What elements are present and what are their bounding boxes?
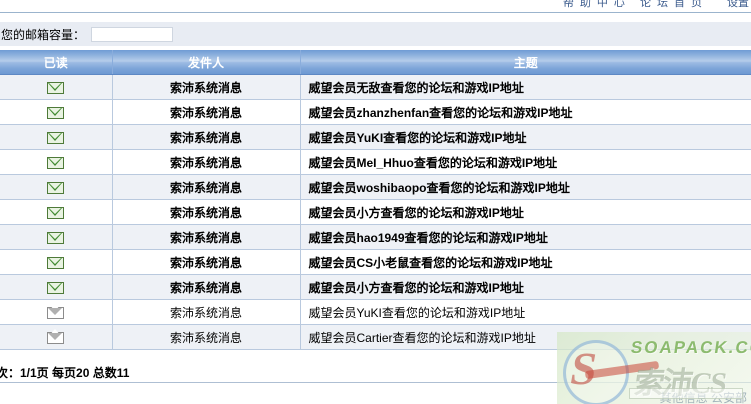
cell-subject[interactable]: 威望会员zhanzhenfan查看您的论坛和游戏IP地址 <box>300 100 751 125</box>
mailbox-capacity-row: 您的邮箱容量： <box>0 21 751 46</box>
table-row[interactable]: 索沛系统消息威望会员MeI_Hhuo查看您的论坛和游戏IP地址 <box>0 150 751 175</box>
closed-envelope-icon[interactable] <box>47 207 64 219</box>
mailbox-capacity-meter <box>91 27 173 42</box>
table-row[interactable]: 索沛系统消息威望会员YuKI查看您的论坛和游戏IP地址 <box>0 300 751 325</box>
cell-subject[interactable]: 威望会员Cartier查看您的论坛和游戏IP地址 <box>300 325 751 350</box>
cell-sender: 索沛系统消息 <box>112 250 300 275</box>
cell-subject[interactable]: 威望会员小方查看您的论坛和游戏IP地址 <box>300 200 751 225</box>
closed-envelope-icon[interactable] <box>47 82 64 94</box>
top-nav-links-clipped[interactable]: 帮助中心 论坛首页 <box>563 0 708 10</box>
column-header-subject[interactable]: 主题 <box>300 50 751 75</box>
closed-envelope-icon[interactable] <box>47 157 64 169</box>
cell-sender: 索沛系统消息 <box>112 200 300 225</box>
cell-read-state <box>0 325 112 350</box>
table-row[interactable]: 索沛系统消息威望会员woshibaopo查看您的论坛和游戏IP地址 <box>0 175 751 200</box>
cell-read-state <box>0 125 112 150</box>
message-table-head: 已读 发件人 主题 <box>0 50 751 75</box>
closed-envelope-icon[interactable] <box>47 282 64 294</box>
closed-envelope-icon[interactable] <box>47 107 64 119</box>
table-row[interactable]: 索沛系统消息威望会员Cartier查看您的论坛和游戏IP地址 <box>0 325 751 350</box>
cell-read-state <box>0 275 112 300</box>
table-row[interactable]: 索沛系统消息威望会员YuKI查看您的论坛和游戏IP地址 <box>0 125 751 150</box>
cell-subject[interactable]: 威望会员hao1949查看您的论坛和游戏IP地址 <box>300 225 751 250</box>
cell-read-state <box>0 175 112 200</box>
cell-subject[interactable]: 威望会员woshibaopo查看您的论坛和游戏IP地址 <box>300 175 751 200</box>
cell-read-state <box>0 200 112 225</box>
cell-sender: 索沛系统消息 <box>112 175 300 200</box>
open-envelope-icon[interactable] <box>47 332 64 344</box>
cell-read-state <box>0 225 112 250</box>
cell-sender: 索沛系统消息 <box>112 150 300 175</box>
cell-subject[interactable]: 威望会员YuKI查看您的论坛和游戏IP地址 <box>300 300 751 325</box>
message-table-body: 索沛系统消息威望会员无敌查看您的论坛和游戏IP地址索沛系统消息威望会员zhanz… <box>0 75 751 350</box>
top-nav-right-clipped[interactable]: 设置 <box>727 0 749 10</box>
cell-read-state <box>0 150 112 175</box>
cell-subject[interactable]: 威望会员MeI_Hhuo查看您的论坛和游戏IP地址 <box>300 150 751 175</box>
pagination-text: 页次：1/1页 每页20 总数11 <box>0 364 129 381</box>
closed-envelope-icon[interactable] <box>47 182 64 194</box>
message-table: 已读 发件人 主题 索沛系统消息威望会员无敌查看您的论坛和游戏IP地址索沛系统消… <box>0 50 751 350</box>
open-envelope-icon[interactable] <box>47 307 64 319</box>
bottom-clipped-text: 其他信息 公安部 <box>660 389 747 404</box>
cell-read-state <box>0 75 112 100</box>
table-row[interactable]: 索沛系统消息威望会员无敌查看您的论坛和游戏IP地址 <box>0 75 751 100</box>
cell-sender: 索沛系统消息 <box>112 100 300 125</box>
cell-subject[interactable]: 威望会员CS小老鼠查看您的论坛和游戏IP地址 <box>300 250 751 275</box>
pagination-footer: 页次：1/1页 每页20 总数11 <box>0 364 751 382</box>
column-header-read[interactable]: 已读 <box>0 50 112 75</box>
top-chrome-strip: 帮助中心 论坛首页 设置 <box>0 0 751 12</box>
cell-sender: 索沛系统消息 <box>112 225 300 250</box>
cell-read-state <box>0 100 112 125</box>
cell-sender: 索沛系统消息 <box>112 300 300 325</box>
cell-read-state <box>0 300 112 325</box>
table-header-row: 已读 发件人 主题 <box>0 50 751 75</box>
cell-subject[interactable]: 威望会员小方查看您的论坛和游戏IP地址 <box>300 275 751 300</box>
table-row[interactable]: 索沛系统消息威望会员小方查看您的论坛和游戏IP地址 <box>0 275 751 300</box>
column-header-sender[interactable]: 发件人 <box>112 50 300 75</box>
table-row[interactable]: 索沛系统消息威望会员CS小老鼠查看您的论坛和游戏IP地址 <box>0 250 751 275</box>
cell-sender: 索沛系统消息 <box>112 75 300 100</box>
mailbox-capacity-label: 您的邮箱容量： <box>0 26 85 43</box>
cell-read-state <box>0 250 112 275</box>
cell-subject[interactable]: 威望会员无敌查看您的论坛和游戏IP地址 <box>300 75 751 100</box>
cell-sender: 索沛系统消息 <box>112 275 300 300</box>
table-row[interactable]: 索沛系统消息威望会员zhanzhenfan查看您的论坛和游戏IP地址 <box>0 100 751 125</box>
closed-envelope-icon[interactable] <box>47 132 64 144</box>
closed-envelope-icon[interactable] <box>47 257 64 269</box>
cell-sender: 索沛系统消息 <box>112 325 300 350</box>
cell-sender: 索沛系统消息 <box>112 125 300 150</box>
table-row[interactable]: 索沛系统消息威望会员小方查看您的论坛和游戏IP地址 <box>0 200 751 225</box>
table-row[interactable]: 索沛系统消息威望会员hao1949查看您的论坛和游戏IP地址 <box>0 225 751 250</box>
cell-subject[interactable]: 威望会员YuKI查看您的论坛和游戏IP地址 <box>300 125 751 150</box>
top-divider <box>0 12 751 13</box>
closed-envelope-icon[interactable] <box>47 232 64 244</box>
bottom-whitespace <box>0 383 751 404</box>
